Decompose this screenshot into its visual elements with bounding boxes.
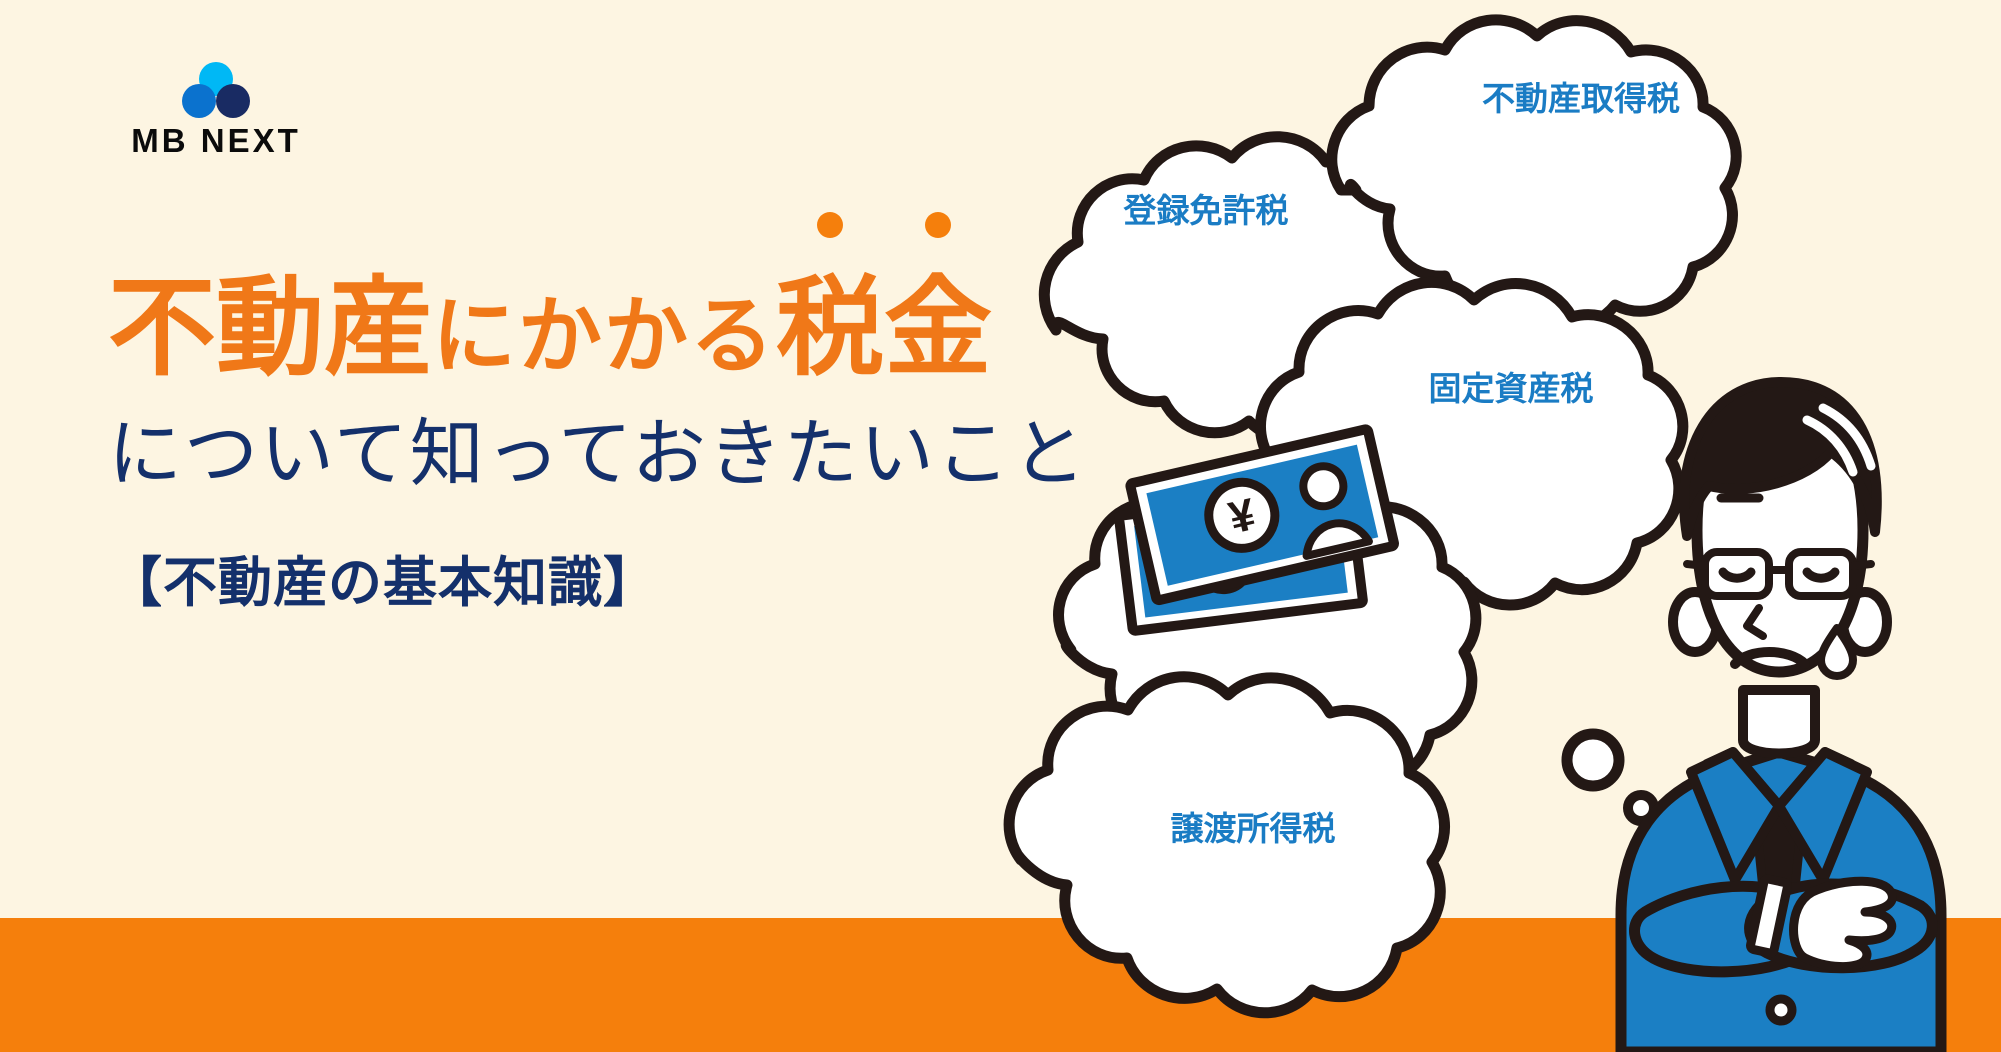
brand-logo[interactable]: MB NEXT <box>96 62 336 157</box>
logo-dot-left <box>182 84 216 118</box>
banknotes-icon: ¥ <box>1112 427 1401 631</box>
headline-secondary: について知っておきたいこと <box>108 411 1088 496</box>
bubble-label-registration-license-tax: 登録免許税 <box>1123 192 1289 229</box>
headline-primary: 不動産にかかる税金 <box>108 268 1088 389</box>
three-circles-icon <box>179 62 253 118</box>
jacket-button <box>1770 999 1792 1021</box>
bubble-label-real-estate-acquisition-tax: 不動産取得税 <box>1482 80 1680 117</box>
headline-block: 不動産にかかる税金 について知っておきたいこと 【不動産の基本知識】 <box>108 268 1088 613</box>
headline-primary-prefix: 不動産 <box>108 267 432 388</box>
bubble-label-capital-gains-tax: 譲渡所得税 <box>1171 810 1336 847</box>
thought-dot-large <box>1567 734 1619 786</box>
headline-category-tag: 【不動産の基本知識】 <box>108 554 1088 613</box>
logo-wordmark: MB NEXT <box>96 124 336 157</box>
bubble-capital-gains-tax: 譲渡所得税 <box>1009 677 1444 1013</box>
headline-primary-kana: にかかる <box>432 289 776 383</box>
logo-dot-right <box>216 84 250 118</box>
headline-primary-emphasis-a: 税 <box>776 268 884 389</box>
headline-primary-emphasis-b: 金 <box>884 268 992 389</box>
bubble-label-fixed-asset-tax: 固定資産税 <box>1429 370 1594 407</box>
illustration-area: 登録免許税 不動産取得税 固定資産税 <box>981 0 2001 1052</box>
banner-root: MB NEXT 不動産にかかる税金 について知っておきたいこと 【不動産の基本知… <box>0 0 2001 1052</box>
